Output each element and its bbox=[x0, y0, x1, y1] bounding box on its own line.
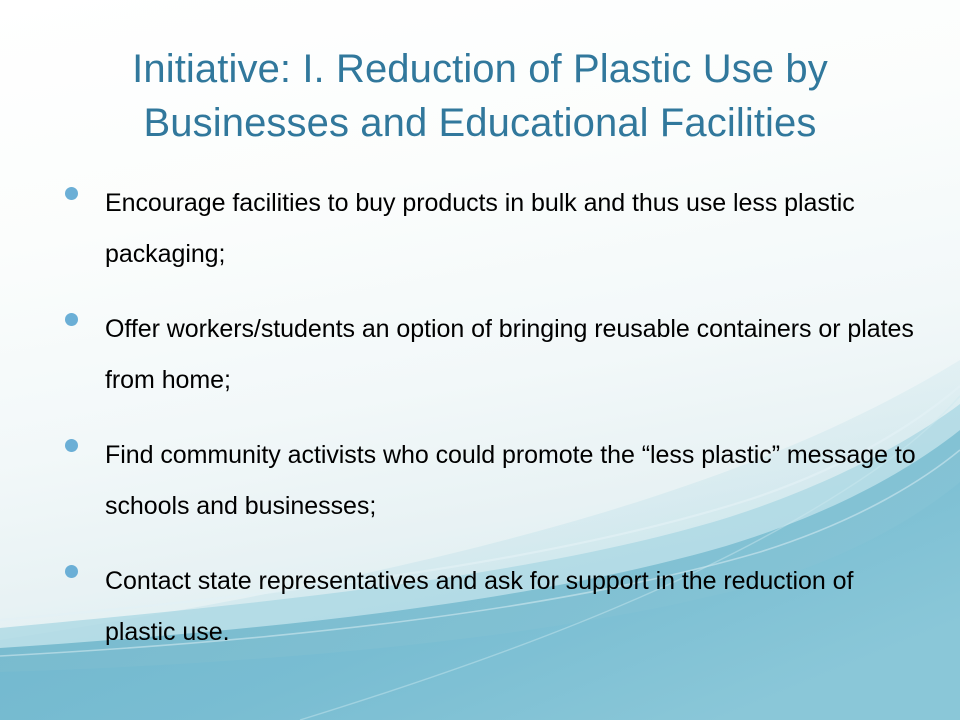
bullet-text-4: Contact state representatives and ask fo… bbox=[105, 556, 920, 658]
bullet-dot-icon bbox=[65, 565, 78, 578]
bullet-text-3: Find community activists who could promo… bbox=[105, 430, 920, 532]
title-line-2: Businesses and Educational Facilities bbox=[50, 96, 910, 150]
bullet-item-1: Encourage facilities to buy products in … bbox=[60, 178, 920, 280]
title-line-1: Initiative: I. Reduction of Plastic Use … bbox=[50, 42, 910, 96]
bullet-text-1: Encourage facilities to buy products in … bbox=[105, 178, 920, 280]
bullet-dot-icon bbox=[65, 439, 78, 452]
slide-title: Initiative: I. Reduction of Plastic Use … bbox=[50, 42, 910, 150]
bullet-dot-icon bbox=[65, 187, 78, 200]
bullet-item-2: Offer workers/students an option of brin… bbox=[60, 304, 920, 406]
bullet-item-4: Contact state representatives and ask fo… bbox=[60, 556, 920, 658]
bullet-list: Encourage facilities to buy products in … bbox=[60, 178, 920, 658]
bullet-text-2: Offer workers/students an option of brin… bbox=[105, 304, 920, 406]
slide-canvas: Initiative: I. Reduction of Plastic Use … bbox=[0, 0, 960, 720]
bullet-dot-icon bbox=[65, 313, 78, 326]
bullet-item-3: Find community activists who could promo… bbox=[60, 430, 920, 532]
